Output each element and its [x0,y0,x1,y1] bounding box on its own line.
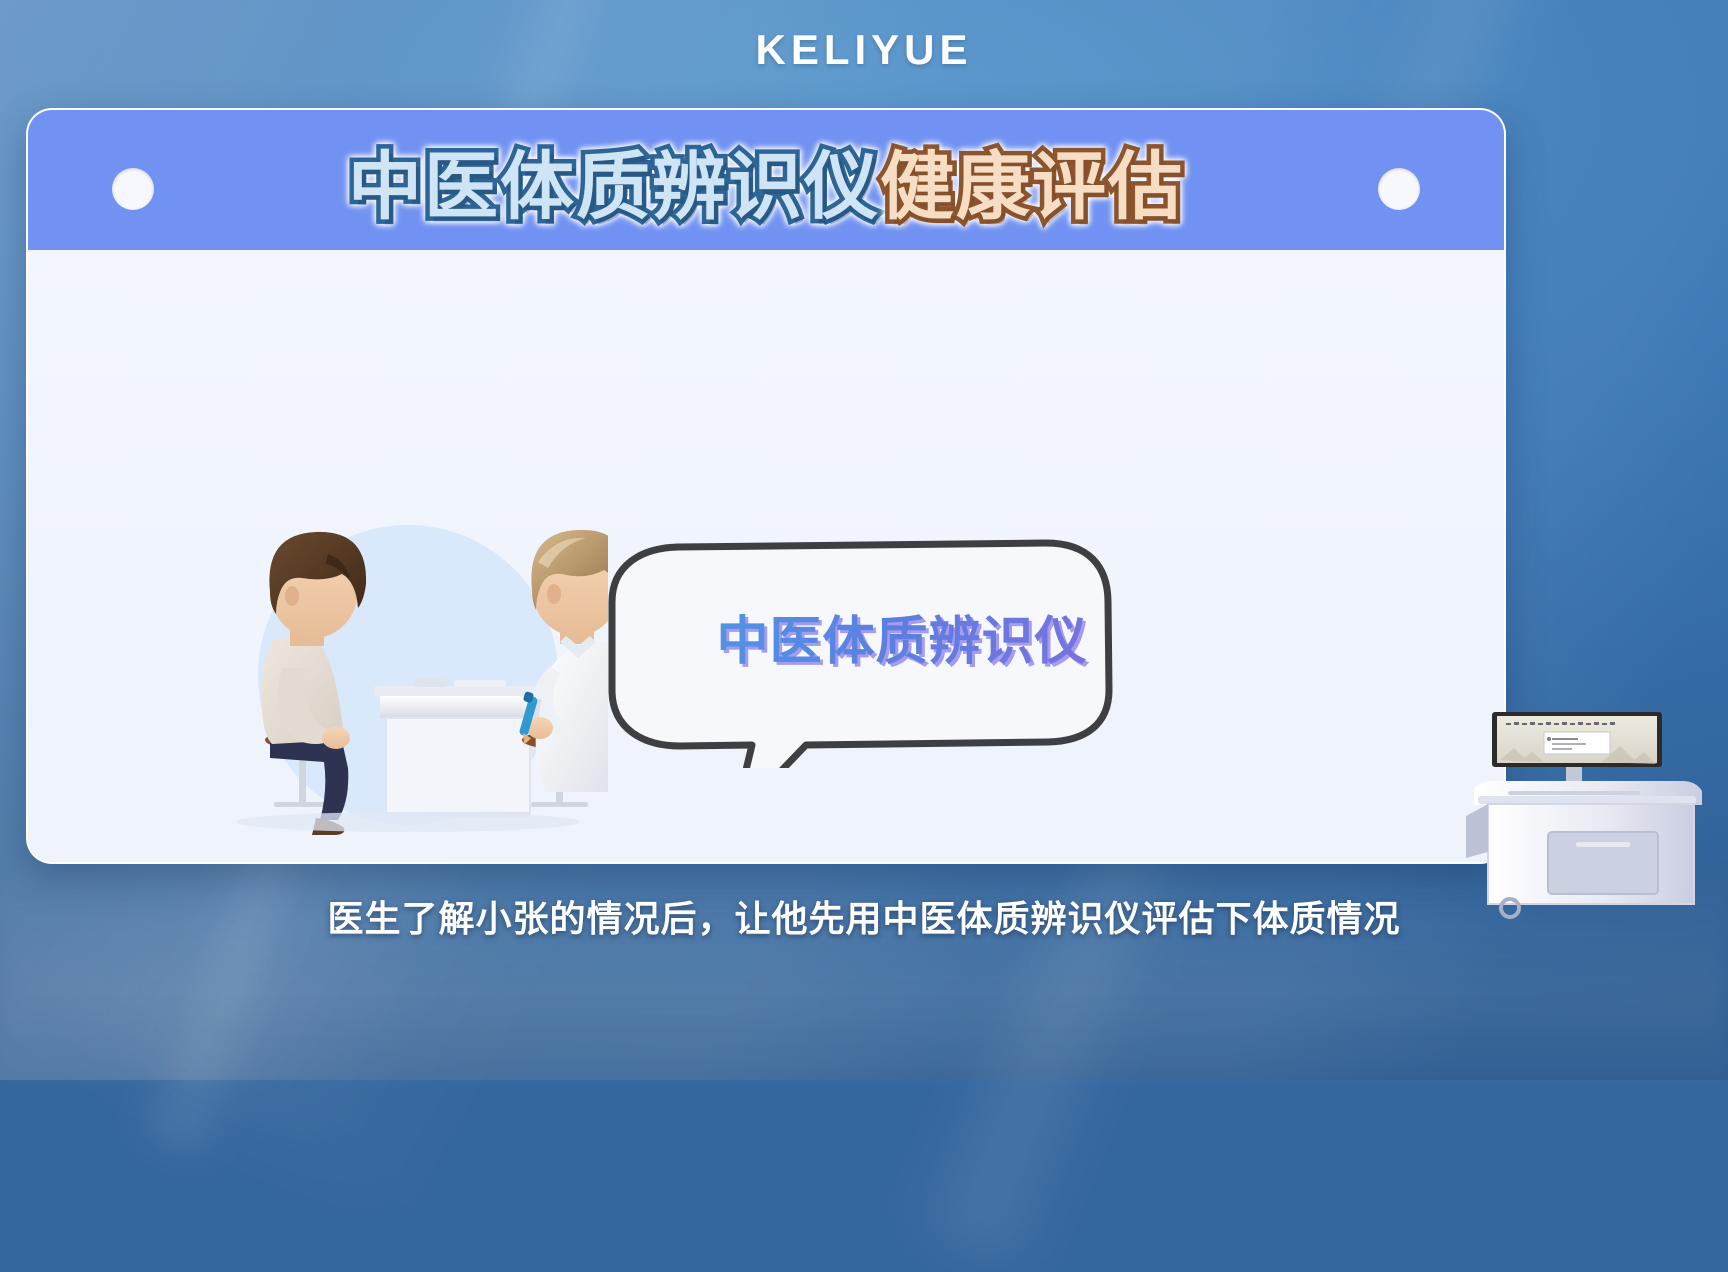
tagline-red-text: 中医体质 [1106,843,1422,864]
content-card: 中医体质辨识仪健康评估 [26,108,1506,864]
tagline-gray-text: 了解自身 [790,843,1106,864]
brand-logo: KELIYUE [0,26,1728,74]
speech-bubble-text: 中医体质辨识仪 [606,538,1118,734]
desk [374,678,542,816]
device-monitor [1492,712,1662,767]
card-title: 中医体质辨识仪健康评估 [28,120,1504,240]
tcm-device-kiosk [1452,692,1728,922]
card-title-secondary: 健康评估 [880,127,1184,234]
card-title-primary: 中医体质辨识仪 [348,127,880,234]
speech-bubble: 中医体质辨识仪 中医体质辨识仪 [606,538,1118,768]
card-body: 中医体质辨识仪 中医体质辨识仪 了解自身中医体质 [28,250,1504,862]
caption-subtitle: 医生了解小张的情况后，让他先用中医体质辨识仪评估下体质情况 [0,890,1728,942]
tagline: 了解自身中医体质 [790,850,1422,864]
consultation-illustration [208,500,608,840]
